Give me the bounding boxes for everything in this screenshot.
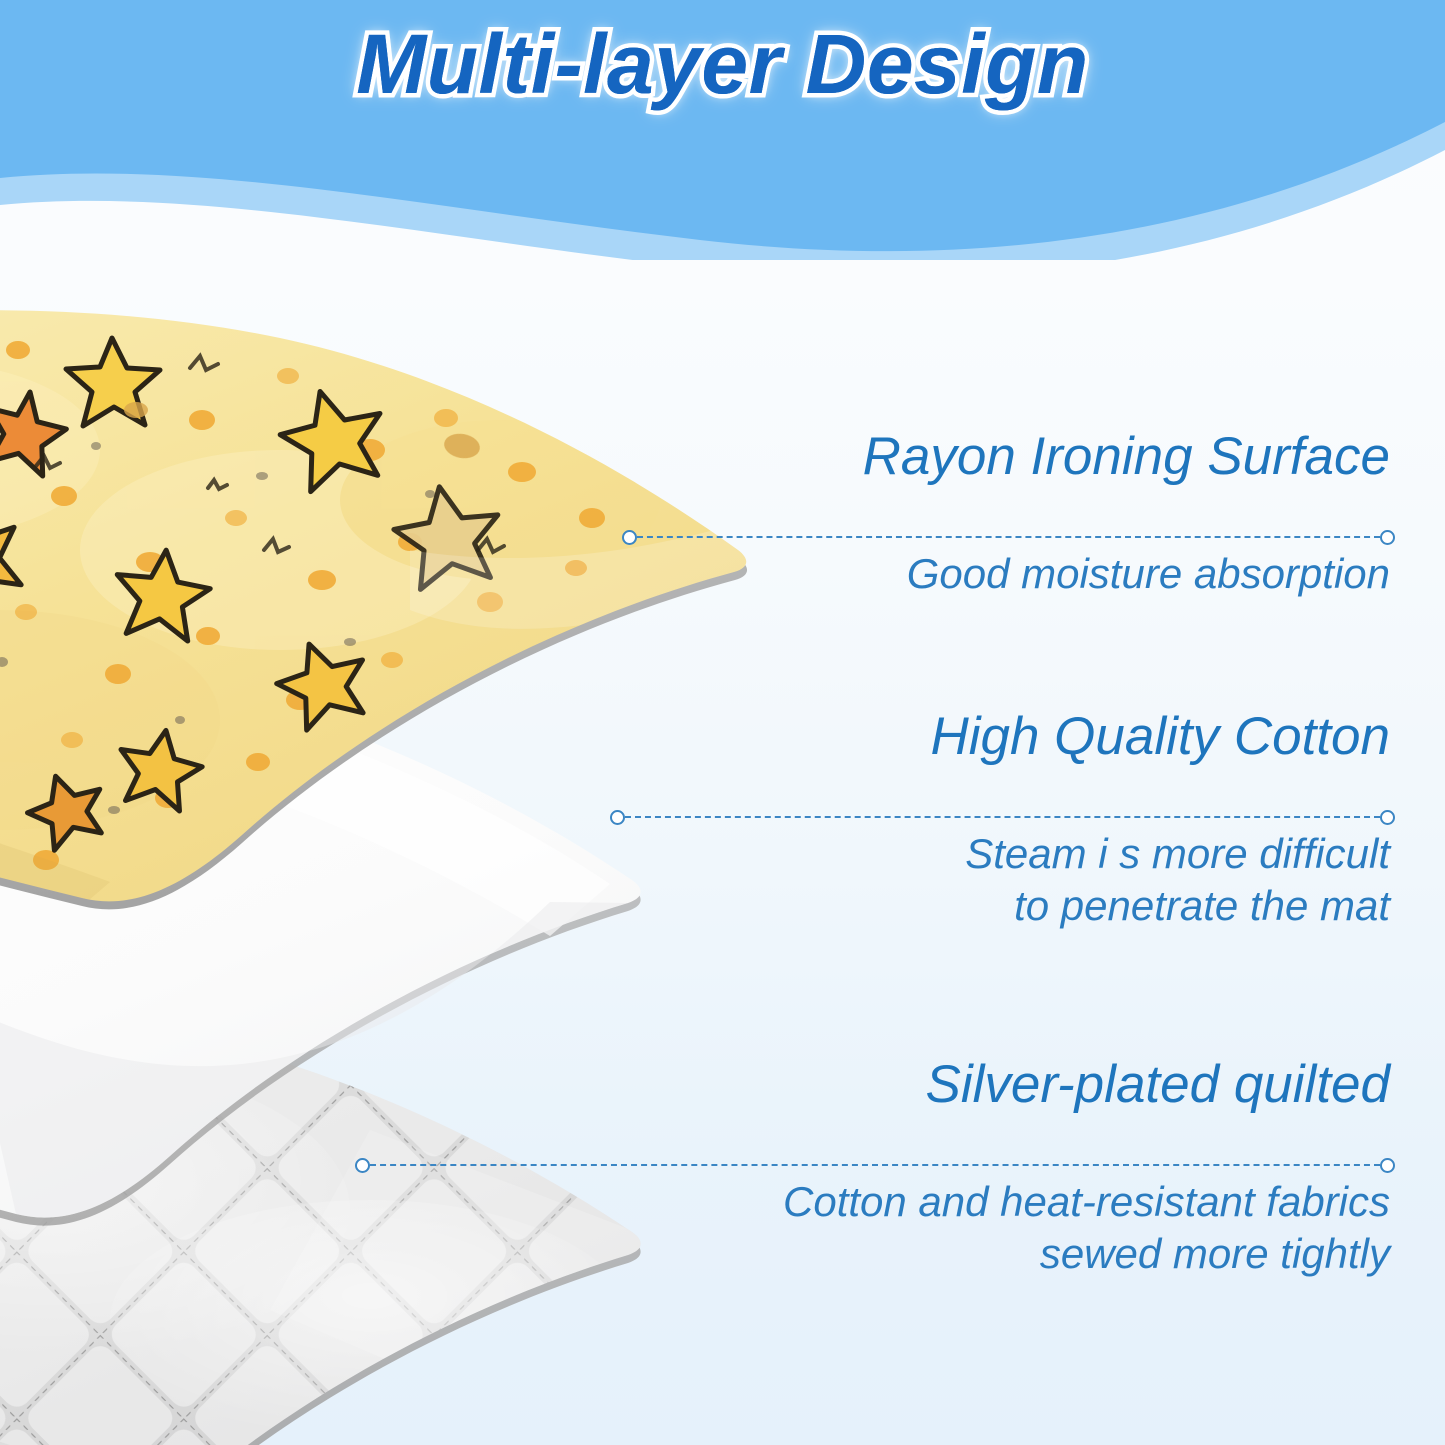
circle-endpoint-icon [1380, 810, 1395, 825]
circle-endpoint-icon [1380, 530, 1395, 545]
callout-quilted-connector [355, 1158, 1395, 1172]
callout-quilted-description-line2: sewed more tightly [1040, 1228, 1390, 1279]
callout-quilted-heading: Silver-plated quilted [925, 1058, 1390, 1112]
callout-cotton-heading: High Quality Cotton [930, 710, 1390, 764]
dashed-connector-line [625, 816, 1380, 818]
callout-rayon-description: Good moisture absorption [907, 548, 1390, 599]
dashed-connector-line [370, 1164, 1380, 1166]
callout-cotton-description-line1: Steam i s more difficult [965, 828, 1390, 879]
callout-cotton-connector [610, 810, 1395, 824]
callout-rayon: Rayon Ironing Surface Good moisture abso… [0, 430, 1445, 590]
circle-endpoint-icon [1380, 1158, 1395, 1173]
header-banner: Multi-layer Design Multi-layer Design [0, 0, 1445, 260]
circle-endpoint-icon [622, 530, 637, 545]
callout-quilted-description-line1: Cotton and heat-resistant fabrics [783, 1176, 1390, 1227]
page-title: Multi-layer Design [0, 16, 1445, 113]
circle-endpoint-icon [355, 1158, 370, 1173]
infographic-canvas: Multi-layer Design Multi-layer Design [0, 0, 1445, 1445]
callout-rayon-heading: Rayon Ironing Surface [863, 430, 1390, 484]
callout-cotton-description-line2: to penetrate the mat [1014, 880, 1390, 931]
circle-endpoint-icon [610, 810, 625, 825]
callout-rayon-connector [622, 530, 1395, 544]
callout-cotton: High Quality Cotton Steam i s more diffi… [0, 710, 1445, 920]
dashed-connector-line [637, 536, 1380, 538]
callout-quilted: Silver-plated quilted Cotton and heat-re… [0, 1058, 1445, 1278]
